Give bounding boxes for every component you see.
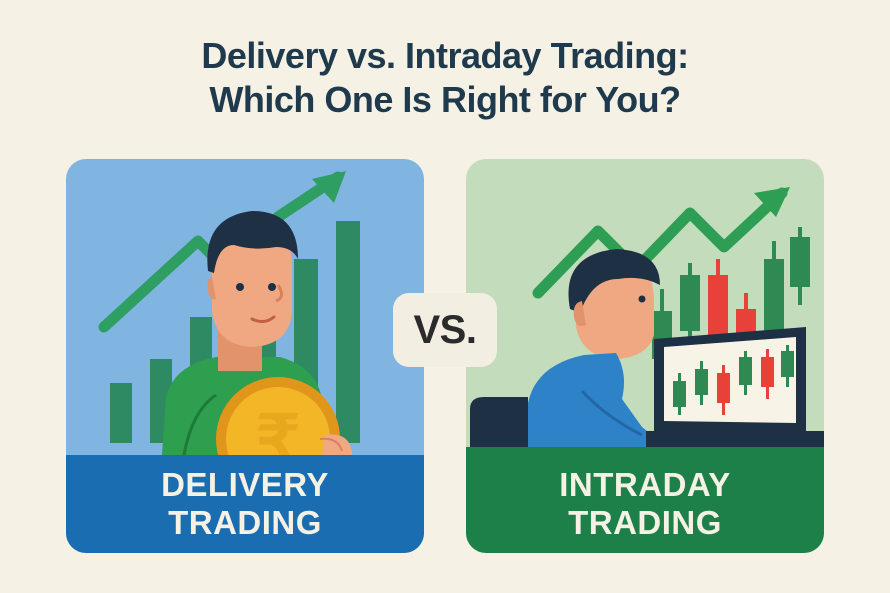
footer-intraday-line-1: INTRADAY xyxy=(559,466,730,504)
panel-delivery-trading[interactable]: ₹ DELIVERY TRADING xyxy=(66,159,424,553)
vs-badge-label: VS. xyxy=(414,308,477,353)
intraday-illustration-svg xyxy=(466,159,824,455)
illustration-intraday xyxy=(466,159,824,455)
footer-delivery-line-1: DELIVERY xyxy=(161,466,329,504)
footer-label-intraday: INTRADAY TRADING xyxy=(466,455,824,553)
bar-1 xyxy=(110,383,132,443)
vs-badge: VS. xyxy=(393,293,497,367)
page-title-line-1: Delivery vs. Intraday Trading: xyxy=(0,34,890,78)
person-eye-right xyxy=(268,283,276,291)
computer-monitor xyxy=(654,327,806,435)
footer-intraday-line-2: TRADING xyxy=(568,504,722,542)
trader-eye xyxy=(639,296,646,303)
bar-6 xyxy=(336,221,360,443)
coin-rupee-symbol: ₹ xyxy=(256,402,301,455)
candle-6 xyxy=(790,227,810,305)
illustration-delivery: ₹ xyxy=(66,159,424,455)
office-chair xyxy=(470,397,528,455)
page-title: Delivery vs. Intraday Trading: Which One… xyxy=(0,34,890,122)
delivery-illustration-svg: ₹ xyxy=(66,159,424,455)
person-eye-left xyxy=(236,283,244,291)
page-title-line-2: Which One Is Right for You? xyxy=(0,78,890,122)
footer-delivery-line-2: TRADING xyxy=(168,504,322,542)
desk-base-strip xyxy=(466,447,824,455)
panel-intraday-trading[interactable]: INTRADAY TRADING xyxy=(466,159,824,553)
footer-label-delivery: DELIVERY TRADING xyxy=(66,455,424,553)
